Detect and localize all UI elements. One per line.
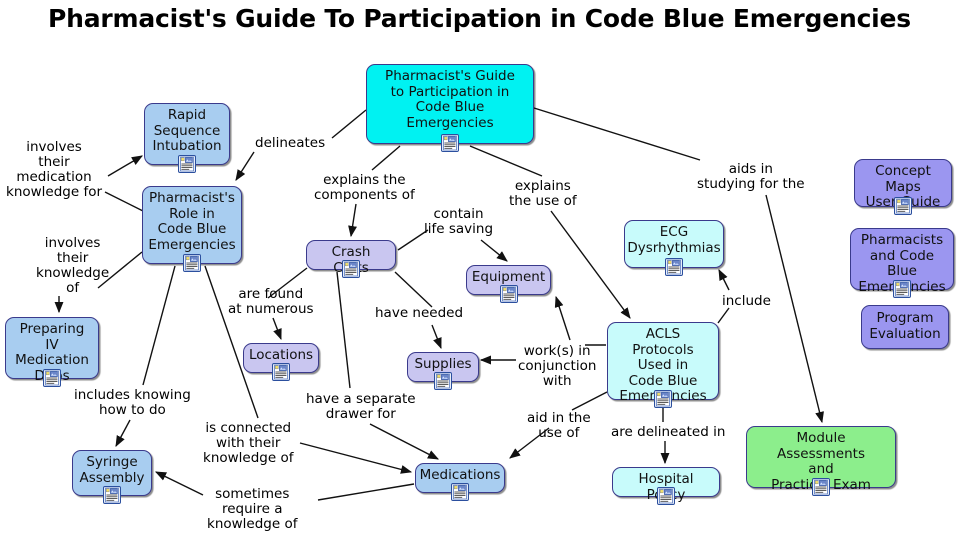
edge-e-center-expl	[372, 146, 400, 170]
node-label: Pharmacist's Role in Code Blue Emergenci…	[148, 191, 235, 253]
edge-e-delin-role	[236, 152, 254, 180]
node-label: Supplies	[414, 357, 471, 373]
node-role[interactable]: Pharmacist's Role in Code Blue Emergenci…	[142, 186, 242, 264]
edge-e-works-equip	[556, 297, 570, 340]
document-resource-icon[interactable]	[178, 155, 196, 173]
edge-e-center-aids	[534, 108, 700, 160]
edge-e-conn-meds	[300, 443, 411, 472]
document-resource-icon[interactable]	[665, 258, 683, 276]
edge-e-aids-module	[766, 195, 822, 422]
edge-e-includes-syr	[116, 420, 130, 446]
node-label: Locations	[249, 348, 313, 364]
edge-e-use-acls	[551, 211, 630, 318]
document-resource-icon[interactable]	[657, 487, 675, 505]
node-policy[interactable]: Hospital Policy	[612, 467, 720, 497]
edge-e-include-acls	[718, 308, 729, 323]
node-label: Equipment	[472, 270, 545, 286]
node-center[interactable]: Pharmacist's Guide to Participation in C…	[366, 64, 534, 144]
document-resource-icon[interactable]	[43, 369, 61, 387]
edge-e-crash-needed	[395, 272, 432, 307]
edge-label-l-involves-know: involves their knowledge of	[36, 236, 109, 296]
edge-e-center-use	[470, 146, 542, 176]
edge-label-l-delineated: are delineated in	[611, 425, 725, 440]
document-resource-icon[interactable]	[812, 478, 830, 496]
document-resource-icon[interactable]	[500, 285, 518, 303]
node-progeval[interactable]: Program Evaluation	[861, 305, 949, 349]
edge-label-l-separate: have a separate drawer for	[306, 392, 416, 422]
edge-e-med-role	[105, 192, 145, 212]
document-resource-icon[interactable]	[451, 483, 469, 501]
node-equipment[interactable]: Equipment	[466, 265, 551, 295]
node-label: Medications	[420, 468, 501, 484]
node-ivdrips[interactable]: Preparing IV Medication Drips	[5, 317, 99, 379]
node-pharmcb[interactable]: Pharmacists and Code Blue Emergencies	[850, 228, 954, 290]
node-label: ECG Dysrhythmias	[627, 225, 720, 256]
document-resource-icon[interactable]	[894, 197, 912, 215]
edge-label-l-found: are found at numerous	[228, 287, 314, 317]
edge-e-center-delin	[332, 110, 366, 138]
document-resource-icon[interactable]	[434, 372, 452, 390]
edge-e-some-syr	[156, 472, 203, 495]
node-syringe[interactable]: Syringe Assembly	[72, 450, 152, 496]
edge-label-l-works: work(s) in conjunction with	[518, 344, 596, 389]
edge-label-l-aids: aids in studying for the	[697, 162, 805, 192]
edge-e-meds-some	[318, 484, 414, 500]
edge-e-expl-crash	[351, 204, 356, 236]
node-ecg[interactable]: ECG Dysrhythmias	[624, 220, 724, 268]
node-supplies[interactable]: Supplies	[407, 352, 479, 382]
node-acls[interactable]: ACLS Protocols Used in Code Blue Emergen…	[607, 322, 719, 400]
concept-map-canvas: Pharmacist's Guide To Participation in C…	[0, 0, 959, 538]
edge-e-role-includes	[143, 266, 175, 385]
document-resource-icon[interactable]	[272, 363, 290, 381]
edge-e-contain-equip	[481, 240, 507, 261]
document-resource-icon[interactable]	[183, 254, 201, 272]
node-label: Rapid Sequence Intubation	[152, 108, 221, 155]
document-resource-icon[interactable]	[103, 486, 121, 504]
document-resource-icon[interactable]	[342, 260, 360, 278]
node-locations[interactable]: Locations	[243, 343, 319, 373]
node-rsi[interactable]: Rapid Sequence Intubation	[144, 103, 230, 165]
edge-label-l-sometimes: sometimes require a knowledge of	[207, 487, 297, 532]
edge-e-found-loc	[273, 318, 281, 339]
edge-e-acls-include	[719, 270, 729, 290]
edge-e-needed-supp	[432, 325, 441, 348]
document-resource-icon[interactable]	[441, 134, 459, 152]
edge-label-l-delineates: delineates	[255, 136, 325, 151]
node-meds[interactable]: Medications	[415, 463, 505, 493]
edge-label-l-explains-use: explains the use of	[509, 179, 577, 209]
document-resource-icon[interactable]	[893, 280, 911, 298]
node-label: Syringe Assembly	[79, 455, 144, 486]
edge-label-l-connected: is connected with their knowledge of	[203, 421, 293, 466]
node-label: Program Evaluation	[869, 311, 940, 342]
edge-e-med-rsi	[108, 156, 142, 176]
edge-e-crash-drawer	[337, 272, 350, 388]
edge-label-l-includes: includes knowing how to do	[74, 388, 191, 418]
document-resource-icon[interactable]	[654, 390, 672, 408]
edge-label-l-include: include	[722, 294, 771, 309]
edge-label-l-contain: contain life saving	[424, 207, 493, 237]
page-title: Pharmacist's Guide To Participation in C…	[0, 4, 959, 33]
node-guide[interactable]: Concept Maps User Guide	[854, 159, 952, 207]
edge-label-l-needed: have needed	[375, 306, 463, 321]
edge-label-l-aid-use: aid in the use of	[527, 411, 591, 441]
node-module[interactable]: Module Assessments and Practical Exam	[746, 426, 896, 488]
edge-label-l-explains-comp: explains the components of	[314, 173, 415, 203]
edge-e-acls-aiduse	[572, 392, 607, 410]
edge-label-l-involves-med: involves their medication knowledge for	[6, 140, 102, 200]
edge-e-drawer-meds	[370, 424, 438, 459]
node-label: Pharmacist's Guide to Participation in C…	[385, 69, 515, 131]
node-crash[interactable]: Crash Carts	[306, 240, 396, 270]
